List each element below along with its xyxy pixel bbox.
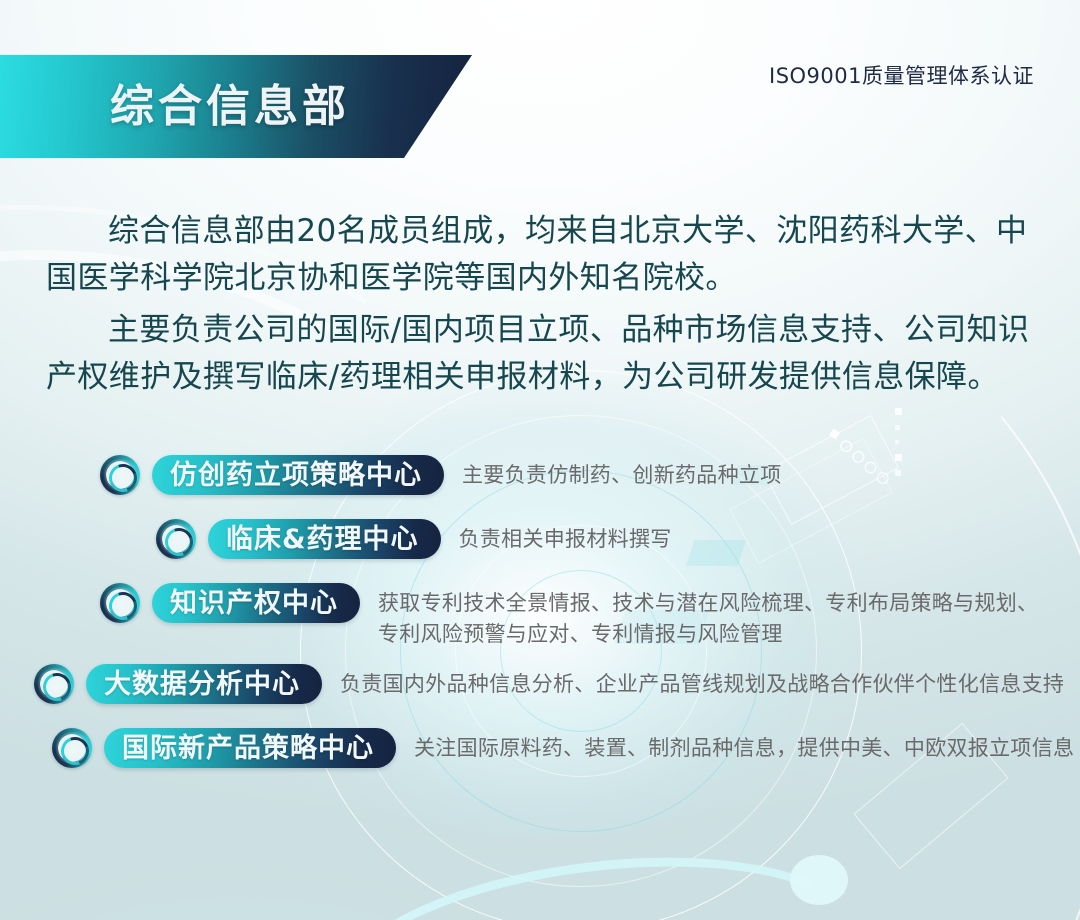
list-item[interactable]: 知识产权中心 获取专利技术全景情报、技术与潜在风险梳理、专利布局策略与规划、 专…	[0, 583, 1080, 650]
intro-paragraph-2: 主要负责公司的国际/国内项目立项、品种市场信息支持、公司知识产权维护及撰写临床/…	[46, 307, 1036, 401]
center-description: 负责相关申报材料撰写	[459, 519, 672, 555]
header-banner: 综合信息部	[0, 55, 472, 158]
list-item[interactable]: 临床&药理中心 负责相关申报材料撰写	[0, 519, 1080, 559]
cyan-sweep-tail	[319, 830, 878, 920]
ring-icon	[34, 664, 74, 704]
list-item[interactable]: 大数据分析中心 负责国内外品种信息分析、企业产品管线规划及战略合作伙伴个性化信息…	[0, 664, 1080, 704]
certification-label: ISO9001质量管理体系认证	[769, 60, 1034, 90]
ring-icon	[100, 455, 140, 495]
page-title: 综合信息部	[110, 85, 350, 129]
center-list: 仿创药立项策略中心 主要负责仿制药、创新药品种立项 临床&药理中心 负责相关申报…	[0, 455, 1080, 780]
ring-icon	[52, 728, 92, 768]
intro-paragraph-1: 综合信息部由20名成员组成，均来自北京大学、沈阳药科大学、中国医学科学院北京协和…	[46, 208, 1036, 302]
center-description: 负责国内外品种信息分析、企业产品管线规划及战略合作伙伴个性化信息支持	[340, 664, 1064, 700]
cyan-blob	[790, 855, 848, 905]
list-item[interactable]: 仿创药立项策略中心 主要负责仿制药、创新药品种立项	[0, 455, 1080, 495]
center-description: 获取专利技术全景情报、技术与潜在风险梳理、专利布局策略与规划、 专利风险预警与应…	[378, 583, 1038, 650]
center-name-pill[interactable]: 仿创药立项策略中心	[152, 455, 444, 495]
slide-canvas: 综合信息部 ISO9001质量管理体系认证 综合信息部由20名成员组成，均来自北…	[0, 0, 1080, 920]
list-item[interactable]: 国际新产品策略中心 关注国际原料药、装置、制剂品种信息，提供中美、中欧双报立项信…	[0, 728, 1080, 768]
center-name-pill[interactable]: 临床&药理中心	[208, 519, 441, 559]
intro-text: 综合信息部由20名成员组成，均来自北京大学、沈阳药科大学、中国医学科学院北京协和…	[46, 208, 1036, 406]
center-name-pill[interactable]: 知识产权中心	[152, 583, 360, 623]
center-name: 国际新产品策略中心	[122, 735, 374, 762]
center-name: 临床&药理中心	[226, 526, 419, 553]
center-name: 大数据分析中心	[104, 671, 300, 698]
ring-icon	[156, 519, 196, 559]
center-name: 仿创药立项策略中心	[170, 462, 422, 489]
center-name-pill[interactable]: 大数据分析中心	[86, 664, 322, 704]
center-name: 知识产权中心	[170, 590, 338, 617]
center-description: 主要负责仿制药、创新药品种立项	[462, 455, 782, 491]
ring-icon	[100, 583, 140, 623]
center-name-pill[interactable]: 国际新产品策略中心	[104, 728, 396, 768]
center-description: 关注国际原料药、装置、制剂品种信息，提供中美、中欧双报立项信息	[414, 728, 1074, 764]
